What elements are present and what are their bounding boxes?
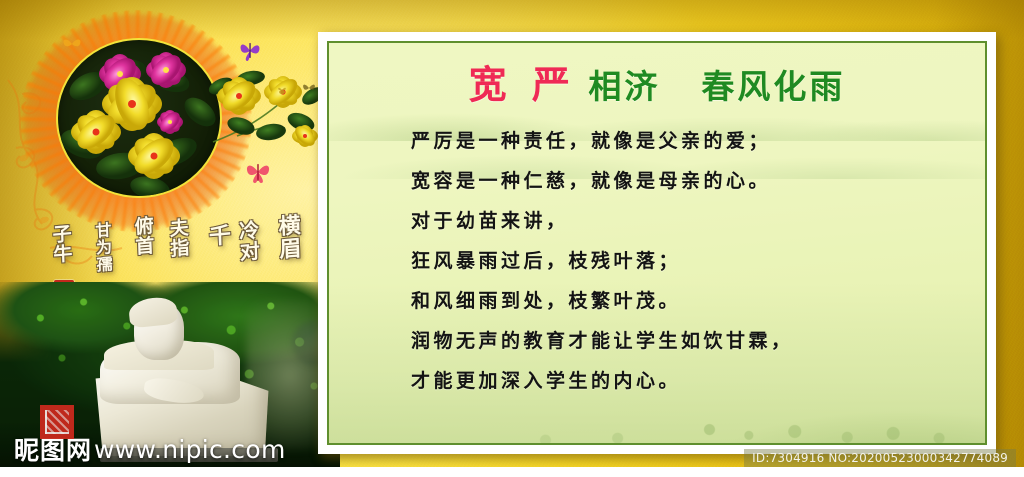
body-line-5: 和风细雨到处，枝繁叶茂。 — [411, 281, 959, 321]
poster-body-lines: 严厉是一种责任，就像是父亲的爱； 宽容是一种仁慈，就像是母亲的心。 对于幼苗来讲… — [355, 121, 959, 401]
title-green-text: 相济 — [588, 67, 660, 106]
poster-canvas: 横眉 冷对 千 夫指 俯首 甘为孺 子牛 — [0, 0, 1024, 477]
poster-title: 宽 严 相济 春风化雨 — [355, 65, 959, 107]
calligraphy-column-6: 甘为孺 — [89, 221, 115, 274]
calligraphy-column-2: 冷对 — [233, 219, 263, 263]
butterfly-pink-icon — [244, 160, 272, 184]
board-inner-panel: 宽 严 相济 春风化雨 严厉是一种责任，就像是父亲的爱； 宽容是一种仁慈，就像是… — [327, 41, 987, 445]
butterfly-small-icon — [302, 82, 316, 94]
bee-icon — [276, 86, 288, 96]
body-line-2: 宽容是一种仁慈，就像是母亲的心。 — [411, 161, 959, 201]
title-green-text-2: 春风化雨 — [701, 67, 845, 106]
chrysanthemum-illustration — [58, 40, 222, 198]
watermark-left: 昵图网 www.nipic.com — [14, 431, 286, 467]
body-line-4: 狂风暴雨过后，枝残叶落； — [411, 241, 959, 281]
body-line-6: 润物无声的教育才能让学生如饮甘霖， — [411, 321, 959, 361]
calligraphy-column-7: 子牛 — [47, 223, 75, 265]
text-board: 宽 严 相济 春风化雨 严厉是一种责任，就像是父亲的爱； 宽容是一种仁慈，就像是… — [318, 32, 996, 454]
calligraphy-column-4: 夫指 — [164, 217, 192, 259]
title-red-text: 宽 严 — [469, 63, 576, 107]
watermark-site-url: www.nipic.com — [94, 435, 286, 464]
butterfly-gold-icon — [62, 36, 82, 52]
butterfly-purple-icon — [238, 40, 262, 62]
body-line-1: 严厉是一种责任，就像是父亲的爱； — [411, 121, 959, 161]
calligraphy-column-5: 俯首 — [129, 215, 157, 257]
body-line-7: 才能更加深入学生的内心。 — [411, 361, 959, 401]
chrysanthemum-medallion — [56, 38, 222, 198]
watermark-seal-icon — [40, 405, 74, 439]
board-content: 宽 严 相济 春风化雨 严厉是一种责任，就像是父亲的爱； 宽容是一种仁慈，就像是… — [329, 43, 985, 401]
calligraphy-column-1: 横眉 — [271, 213, 305, 262]
calligraphy-column-3: 千 — [202, 223, 235, 249]
bottom-white-strip — [0, 467, 1024, 477]
body-line-3: 对于幼苗来讲， — [411, 201, 959, 241]
watermark-id-line: ID:7304916 NO:20200523000342774089 — [744, 449, 1016, 467]
